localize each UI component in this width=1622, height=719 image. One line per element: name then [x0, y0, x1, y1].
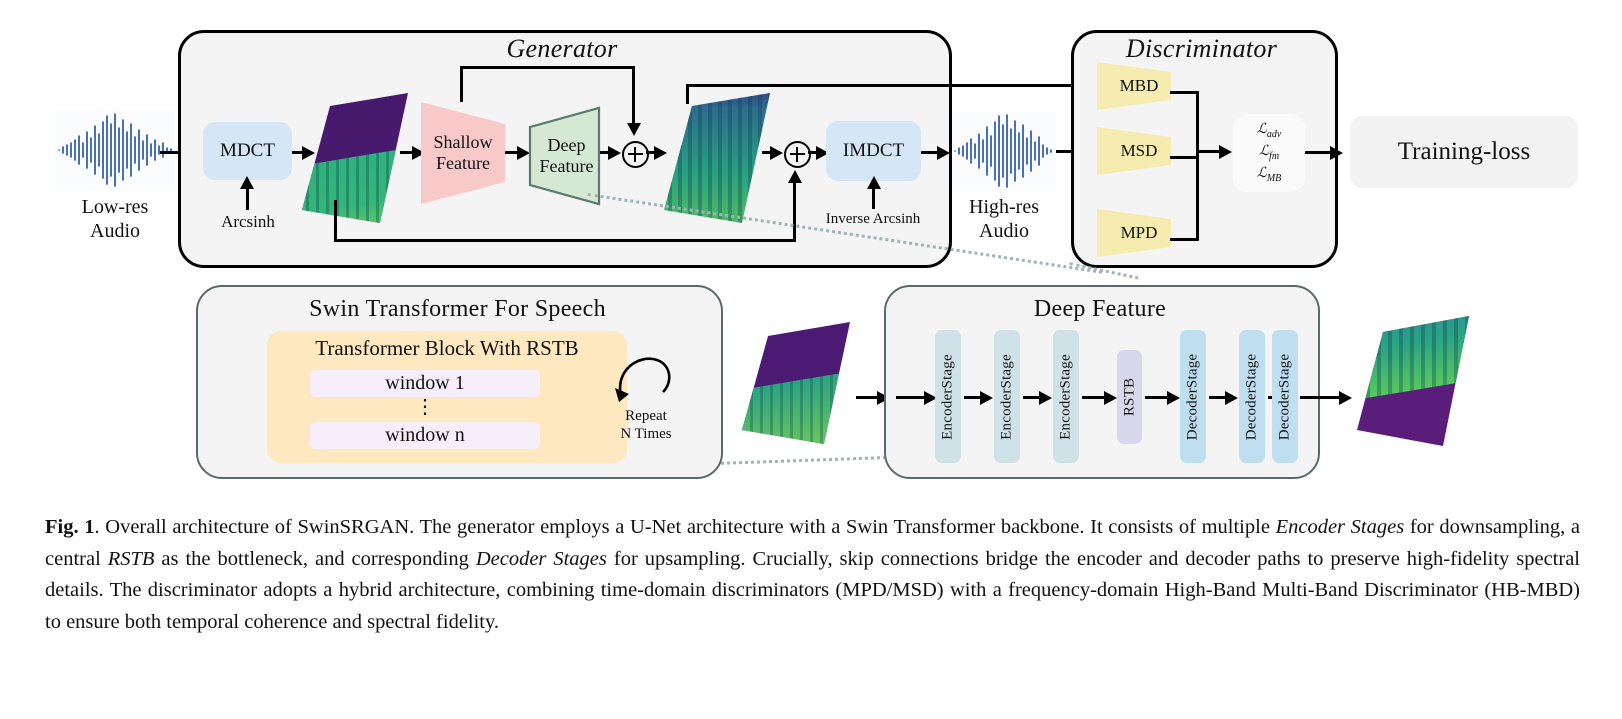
deep-feature-input-spectrogram	[740, 318, 852, 448]
training-loss-box: Training-loss	[1350, 116, 1578, 188]
arrow-loss-to-training-head	[1330, 146, 1343, 160]
skip-shallow-top-line	[460, 66, 635, 69]
deep-feature-panel-title: Deep Feature	[884, 296, 1316, 323]
disc-merge-mbd-line	[1170, 91, 1198, 94]
high-res-audio-label: High-res Audio	[946, 196, 1062, 243]
deep-feature-stage-rstb-label: RSTB	[1121, 378, 1138, 416]
shallow-feature-label-line1: Shallow	[433, 132, 492, 152]
arrow-enc2-enc3-head	[1039, 391, 1052, 405]
skip-spec1-riser	[334, 200, 337, 242]
swin-window-ellipsis: ⋮	[310, 396, 540, 420]
low-res-audio-label: Low-res Audio	[55, 196, 175, 243]
inverse-arcsinh-label: Inverse Arcsinh	[808, 211, 938, 229]
arrow-dec1-dec2-head	[1225, 391, 1238, 405]
mdct-spectrogram	[300, 88, 410, 228]
deep-feature-stage-decoder-2-label: DecoderStage	[1244, 353, 1261, 440]
caption-segment: Decoder Stages	[476, 548, 607, 570]
loss-term-adv: ℒadv	[1257, 120, 1282, 142]
loss-term-mb: ℒMB	[1257, 164, 1282, 186]
high-res-audio-waveform	[952, 112, 1056, 190]
repeat-label-line1: Repeat	[608, 408, 684, 426]
disc-mbd-feed-riser	[686, 84, 689, 104]
shallow-feature-label-line2: Feature	[436, 153, 490, 173]
discriminator-branch-mpd-label: MPD	[1121, 223, 1158, 243]
shallow-feature-block[interactable]: Shallow Feature	[419, 98, 507, 208]
high-res-audio-label-line1: High-res	[946, 196, 1062, 220]
deep-feature-stage-decoder-3[interactable]: DecoderStage	[1272, 330, 1298, 463]
arrow-panel-exit-head	[1339, 391, 1352, 405]
deep-feature-stage-decoder-1[interactable]: DecoderStage	[1180, 330, 1206, 463]
mdct-label: MDCT	[220, 140, 275, 162]
repeat-n-times-label: Repeat N Times	[608, 408, 684, 443]
skip-spec1-to-add2-riser	[793, 180, 796, 242]
discriminator-branch-msd-label: MSD	[1121, 141, 1158, 161]
deep-feature-stage-rstb[interactable]: RSTB	[1117, 350, 1142, 444]
high-res-audio-label-line2: Audio	[946, 220, 1062, 244]
arrow-deep-to-add1-head	[608, 146, 621, 160]
arcsinh-label: Arcsinh	[196, 212, 300, 232]
deep-feature-label-line2: Feature	[540, 156, 594, 176]
caption-segment: Encoder Stages	[1276, 516, 1405, 538]
imdct-box[interactable]: IMDCT	[826, 121, 921, 181]
loss-box: ℒadv ℒfm ℒMB	[1233, 114, 1305, 192]
imdct-label: IMDCT	[843, 140, 904, 162]
shallow-feature-label: Shallow Feature	[433, 132, 492, 173]
leader-swin-to-deepfeature	[716, 456, 886, 465]
deep-feature-stage-decoder-3-label: DecoderStage	[1277, 353, 1294, 440]
deep-feature-stage-encoder-1-label: EncoderStage	[940, 354, 957, 440]
discriminator-branch-mbd-label: MBD	[1120, 76, 1159, 96]
disc-merge-mpd-line	[1170, 238, 1198, 241]
skip-spec1-arrow-head	[788, 170, 802, 183]
swin-window-n[interactable]: window n	[310, 422, 540, 449]
deep-feature-stage-encoder-2[interactable]: EncoderStage	[994, 330, 1020, 463]
low-res-audio-waveform	[55, 110, 175, 190]
deep-feature-output-spectrogram	[1355, 312, 1473, 452]
deep-feature-stage-encoder-1[interactable]: EncoderStage	[935, 330, 961, 463]
skip-shallow-right-drop	[632, 66, 635, 126]
caption-segment: Fig. 1	[45, 516, 95, 538]
figure-swinsrgan-architecture: Low-res Audio Generator MDCT Arcsinh	[0, 0, 1622, 719]
repeat-loop-icon	[613, 352, 675, 408]
low-res-audio-label-line2: Audio	[55, 220, 175, 244]
training-loss-label: Training-loss	[1398, 138, 1530, 167]
swin-transformer-title: Swin Transformer For Speech	[196, 296, 719, 323]
deep-feature-label: Deep Feature	[540, 135, 594, 176]
loss-term-fm: ℒfm	[1259, 142, 1279, 164]
add-operator-1	[622, 141, 649, 168]
caption-segment: as the bottleneck, and corresponding	[154, 548, 475, 570]
deep-feature-stage-decoder-2[interactable]: DecoderStage	[1239, 330, 1265, 463]
arrow-rstb-dec1-head	[1167, 391, 1180, 405]
skip-spec1-bottom-line	[334, 239, 795, 242]
disc-mbd-feed-line	[686, 84, 1092, 87]
caption-segment: RSTB	[108, 548, 155, 570]
mdct-box[interactable]: MDCT	[203, 122, 292, 180]
arrow-enc3-rstb-head	[1104, 391, 1117, 405]
deep-feature-stage-encoder-3-label: EncoderStage	[1058, 354, 1075, 440]
swin-window-n-label: window n	[385, 424, 464, 447]
transformer-block-title: Transformer Block With RSTB	[267, 336, 627, 361]
figure-caption: Fig. 1. Overall architecture of SwinSRGA…	[45, 512, 1580, 638]
disc-merge-msd-line	[1170, 156, 1198, 159]
deep-feature-stage-encoder-2-label: EncoderStage	[999, 354, 1016, 440]
swin-window-1[interactable]: window 1	[310, 370, 540, 397]
deep-feature-label-line1: Deep	[548, 135, 586, 155]
deep-feature-stage-encoder-3[interactable]: EncoderStage	[1053, 330, 1079, 463]
arrow-spec2-to-add2-head	[770, 146, 783, 160]
generator-title: Generator	[178, 34, 946, 64]
swin-window-1-label: window 1	[385, 372, 464, 395]
add-operator-2	[784, 141, 811, 168]
repeat-label-line2: N Times	[608, 426, 684, 444]
inverse-arcsinh-arrow-head	[867, 176, 881, 189]
deep-feature-block[interactable]: Deep Feature	[527, 105, 602, 207]
discriminator-branch-mpd[interactable]: MPD	[1095, 207, 1173, 259]
arcsinh-arrow-head	[240, 176, 254, 189]
arrow-imdct-to-output-head	[937, 146, 950, 160]
arrow-enc1-enc2-head	[980, 391, 993, 405]
disc-merge-to-loss-head	[1219, 145, 1232, 159]
discriminator-branch-msd[interactable]: MSD	[1095, 125, 1173, 177]
low-res-audio-label-line1: Low-res	[55, 196, 175, 220]
disc-merge-bus	[1196, 91, 1199, 241]
deep-feature-stage-decoder-1-label: DecoderStage	[1185, 353, 1202, 440]
discriminator-branch-mbd[interactable]: MBD	[1095, 60, 1173, 112]
skip-shallow-arrow-head	[627, 123, 641, 136]
skip-shallow-left-riser	[460, 66, 463, 102]
caption-segment: . Overall architecture of SwinSRGAN. The…	[95, 516, 1276, 538]
